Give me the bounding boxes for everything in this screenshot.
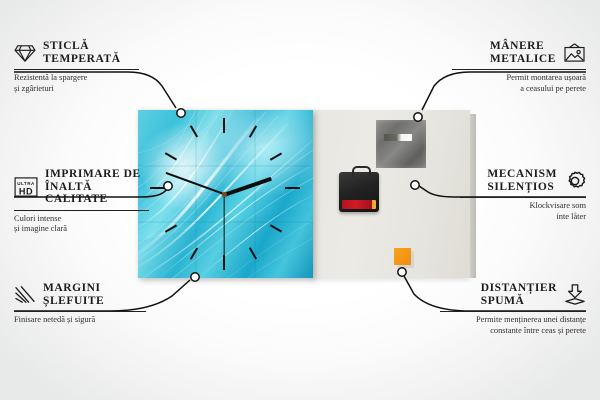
feature-subtitle: Permite menținerea unei distanțe constan…: [440, 315, 586, 336]
feature-title: MECANISM SILENȚIOS: [487, 168, 557, 193]
divider: [440, 311, 586, 312]
arrow-down-layer-icon: [564, 284, 586, 305]
feature-title-row: MÂNERE METALICE: [452, 40, 586, 65]
feature-title: DISTANȚIER SPUMĂ: [481, 282, 557, 307]
second-hand: [223, 195, 224, 257]
hour-tick: [285, 187, 300, 189]
hour-tick: [150, 187, 165, 189]
feature-metal-handles[interactable]: MÂNERE METALICE Permit montarea ușoară a…: [452, 40, 586, 95]
divider: [452, 69, 586, 70]
feature-silent-mechanism[interactable]: MECANISM SILENȚIOS Klockvisare som inte …: [460, 168, 586, 223]
hour-tick: [223, 118, 225, 133]
feature-title-row: MECANISM SILENȚIOS: [460, 168, 586, 193]
divider: [14, 69, 139, 70]
infographic-canvas: STICLĂ TEMPERATĂ Rezistentă la spargere …: [0, 0, 600, 400]
feature-title: MÂNERE METALICE: [490, 40, 556, 65]
feature-high-quality-print[interactable]: ultra HD IMPRIMARE DE ÎNALTĂ CALITATE Cu…: [14, 168, 149, 235]
divider: [14, 210, 149, 211]
feature-title-row: STICLĂ TEMPERATĂ: [14, 40, 139, 65]
clock-mechanism: [339, 172, 379, 212]
feature-foam-spacer[interactable]: DISTANȚIER SPUMĂ Permite menținerea unei…: [440, 282, 586, 337]
feature-title: IMPRIMARE DE ÎNALTĂ CALITATE: [45, 168, 149, 206]
mechanism-hook: [352, 166, 371, 177]
metal-hanger-plate: [376, 120, 426, 168]
hands-center-pin: [222, 192, 227, 197]
feature-subtitle: Culori intense și imagine clară: [14, 214, 149, 235]
feature-tempered-glass[interactable]: STICLĂ TEMPERATĂ Rezistentă la spargere …: [14, 40, 139, 95]
ultra-hd-icon: ultra HD: [14, 177, 38, 197]
battery: [342, 200, 376, 209]
feature-title-row: DISTANȚIER SPUMĂ: [440, 282, 586, 307]
feature-polished-edges[interactable]: MARGINI ȘLEFUITE Finisare netedă și sigu…: [14, 282, 146, 326]
feature-title-row: ultra HD IMPRIMARE DE ÎNALTĂ CALITATE: [14, 168, 149, 206]
divider: [14, 311, 146, 312]
divider: [460, 197, 586, 198]
gear-icon: [564, 170, 586, 192]
feature-subtitle: Klockvisare som inte låter: [460, 201, 586, 222]
hour-tick: [223, 255, 225, 270]
polished-edges-icon: [14, 285, 36, 304]
feature-title-row: MARGINI ȘLEFUITE: [14, 282, 146, 307]
hanger-slot: [384, 134, 412, 141]
feature-subtitle: Finisare netedă și sigură: [14, 315, 146, 326]
feature-title: MARGINI ȘLEFUITE: [43, 282, 104, 307]
picture-hanger-icon: [563, 43, 586, 62]
feature-subtitle: Permit montarea ușoară a ceasului pe per…: [452, 73, 586, 94]
feature-title: STICLĂ TEMPERATĂ: [43, 40, 121, 65]
foam-spacer: [394, 248, 411, 265]
product-image: [138, 110, 470, 278]
clock-face: [138, 110, 313, 278]
feature-subtitle: Rezistentă la spargere și zgârieturi: [14, 73, 139, 94]
diamond-icon: [14, 44, 36, 62]
svg-text:HD: HD: [19, 186, 33, 196]
